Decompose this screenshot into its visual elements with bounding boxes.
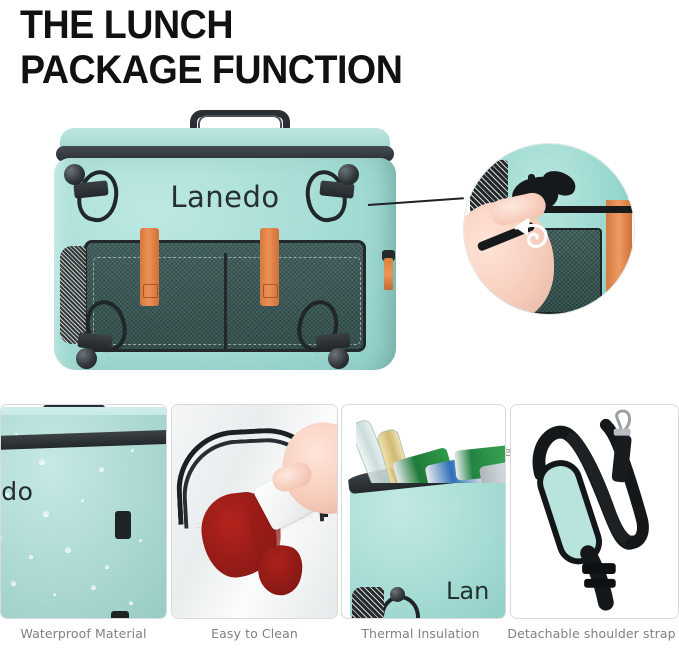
orange-strap-left — [140, 228, 159, 306]
insulation-bag-body: Lan — [350, 477, 506, 619]
caption-waterproof: Waterproof Material — [0, 626, 167, 641]
waterproof-side-tab-lower — [111, 611, 129, 619]
cord-ball-bottom-right — [328, 348, 349, 369]
caption-easy-to-clean: Easy to Clean — [171, 626, 338, 641]
shoulder-strap-image — [511, 405, 678, 617]
insulation-brand-logo: Lan — [446, 577, 489, 605]
cord-ball-top-left — [64, 164, 85, 185]
page-title-line-2: PACKAGE FUNCTION — [20, 51, 622, 90]
insulation-cord-ball — [390, 587, 405, 602]
feature-panel-shoulder-strap — [510, 404, 679, 619]
main-product-image: Lanedo — [30, 108, 420, 390]
zipper-pull — [384, 258, 393, 290]
feature-panel-thermal-insulation: Lan — [341, 404, 506, 619]
hero-section: Lanedo — [0, 100, 679, 392]
insulation-contents — [356, 419, 506, 483]
waterproof-brand-logo: nedo — [0, 477, 33, 506]
waterproof-side-tab — [115, 511, 131, 539]
feature-panel-easy-to-clean — [171, 404, 338, 619]
orange-strap-right — [260, 228, 279, 306]
strap-webbing-tail — [588, 553, 606, 602]
side-mesh-pocket — [60, 246, 86, 344]
insulation-side-mesh — [352, 587, 384, 619]
feature-captions: Waterproof Material Easy to Clean Therma… — [0, 626, 679, 653]
caption-shoulder-strap: Detachable shoulder strap — [504, 626, 679, 641]
page-title-line-1: THE LUNCH — [20, 6, 622, 45]
mesh-pocket-divider — [224, 253, 227, 349]
strap-adjuster-bar — [584, 579, 616, 588]
feature-panels: nedo Lan — [0, 404, 679, 619]
detail-orange-strap — [606, 200, 632, 314]
snap-hook-base — [614, 429, 631, 436]
strap-adjuster-buckle — [582, 563, 616, 574]
feature-panel-waterproof: nedo — [0, 404, 167, 619]
page-title: THE LUNCH PACKAGE FUNCTION — [20, 2, 660, 90]
cord-ball-top-right — [338, 164, 359, 185]
curl-arrow-icon — [508, 210, 554, 256]
caption-thermal-insulation: Thermal Insulation — [335, 626, 506, 641]
cord-ball-bottom-left — [76, 348, 97, 369]
detail-circle-image — [463, 143, 635, 315]
